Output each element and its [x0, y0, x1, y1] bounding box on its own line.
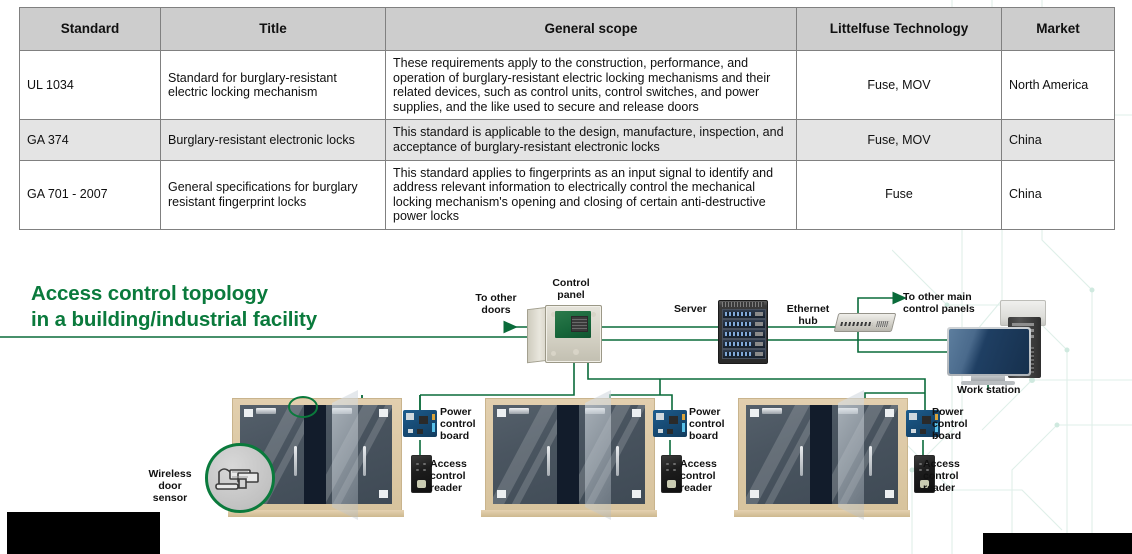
label-power-control-board-3: Power control board — [932, 406, 988, 442]
label-work-station: Work station — [957, 384, 1047, 396]
access-control-reader-1 — [411, 455, 432, 493]
door-sensor-highlight-circle — [288, 396, 318, 418]
label-to-other-main-control-panels: To other main control panels — [903, 291, 1013, 315]
label-ethernet-hub: Ethernet hub — [781, 303, 835, 327]
door-assembly-3 — [738, 398, 906, 520]
power-control-board-1 — [403, 410, 437, 437]
access-control-reader-2 — [661, 455, 682, 493]
label-wireless-door-sensor: Wireless door sensor — [140, 468, 200, 504]
power-control-board-2 — [653, 410, 687, 437]
ethernet-hub-device — [834, 313, 897, 332]
wireless-door-sensor-callout — [205, 443, 275, 513]
label-to-other-doors: To other doors — [463, 292, 529, 316]
label-control-panel: Control panel — [539, 277, 603, 301]
server-rack — [718, 300, 768, 364]
label-access-control-reader-3: Access control reader — [923, 458, 979, 494]
slide-root: Standard Title General scope Littelfuse … — [0, 0, 1132, 554]
door-assembly-2 — [485, 398, 653, 520]
label-access-control-reader-2: Access control reader — [680, 458, 736, 494]
control-panel-chip — [571, 316, 588, 332]
label-power-control-board-2: Power control board — [689, 406, 745, 442]
redaction-bar-left — [7, 512, 160, 554]
redaction-bar-right — [983, 533, 1132, 554]
label-access-control-reader-1: Access control reader — [430, 458, 486, 494]
label-power-control-board-1: Power control board — [440, 406, 496, 442]
monitor — [947, 327, 1031, 376]
label-server: Server — [674, 303, 716, 315]
